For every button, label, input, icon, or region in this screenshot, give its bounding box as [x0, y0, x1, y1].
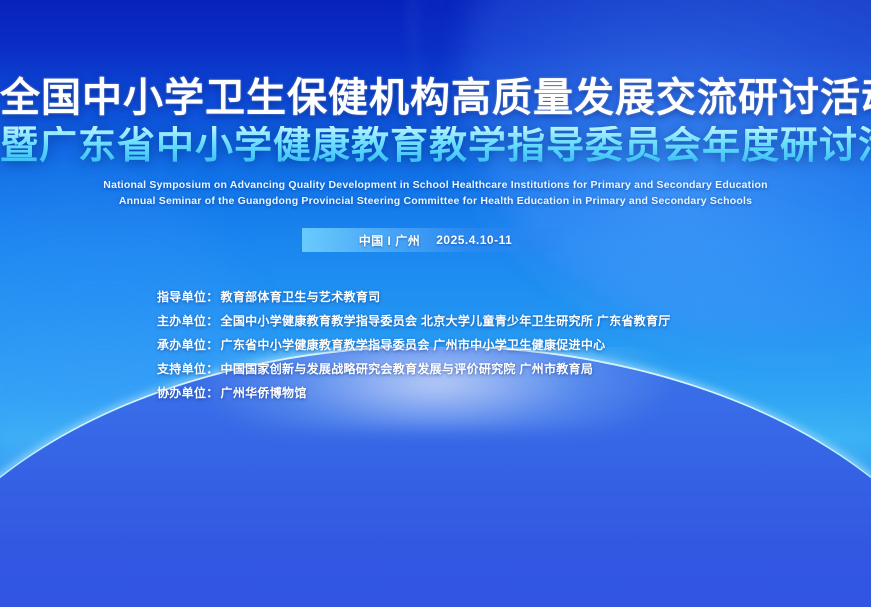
organizer-label: 主办单位：: [157, 312, 219, 329]
conference-poster: 全国中小学卫生保健机构高质量发展交流研讨活动 暨广东省中小学健康教育教学指导委员…: [0, 0, 871, 607]
organizer-value: 中国国家创新与发展战略研究会教育发展与评价研究院 广州市教育局: [221, 360, 594, 377]
poster-title-primary: 全国中小学卫生保健机构高质量发展交流研讨活动: [0, 74, 871, 118]
organizer-row: 指导单位：教育部体育卫生与艺术教育司: [157, 288, 671, 312]
badge-date: 2025.4.10-11: [436, 233, 512, 247]
organizer-value: 全国中小学健康教育教学指导委员会 北京大学儿童青少年卫生研究所 广东省教育厅: [221, 312, 671, 329]
organizer-row: 支持单位：中国国家创新与发展战略研究会教育发展与评价研究院 广州市教育局: [157, 360, 671, 384]
poster-title-secondary: 暨广东省中小学健康教育教学指导委员会年度研讨活动: [0, 126, 871, 164]
organizer-label: 指导单位：: [157, 288, 219, 305]
subtitle-line-2: Annual Seminar of the Guangdong Provinci…: [0, 193, 871, 209]
title-block: 全国中小学卫生保健机构高质量发展交流研讨活动 暨广东省中小学健康教育教学指导委员…: [0, 74, 871, 210]
organizer-row: 主办单位：全国中小学健康教育教学指导委员会 北京大学儿童青少年卫生研究所 广东省…: [157, 312, 671, 336]
badge-location: 中国 I 广州: [359, 232, 421, 249]
organizer-row: 承办单位：广东省中小学健康教育教学指导委员会 广州市中小学卫生健康促进中心: [157, 336, 671, 360]
event-badge-row: 中国 I 广州 2025.4.10-11: [0, 228, 871, 252]
organizer-value: 教育部体育卫生与艺术教育司: [221, 288, 381, 305]
organizer-label: 承办单位：: [157, 336, 219, 353]
poster-subtitle: National Symposium on Advancing Quality …: [0, 177, 871, 210]
event-badge: 中国 I 广州 2025.4.10-11: [302, 228, 570, 252]
organizer-value: 广东省中小学健康教育教学指导委员会 广州市中小学卫生健康促进中心: [221, 336, 606, 353]
organizer-row: 协办单位：广州华侨博物馆: [157, 384, 671, 408]
organizer-value: 广州华侨博物馆: [221, 384, 307, 401]
subtitle-line-1: National Symposium on Advancing Quality …: [0, 177, 871, 193]
organizer-label: 支持单位：: [157, 360, 219, 377]
organizer-label: 协办单位：: [157, 384, 219, 401]
organizer-list: 指导单位：教育部体育卫生与艺术教育司主办单位：全国中小学健康教育教学指导委员会 …: [157, 288, 671, 408]
